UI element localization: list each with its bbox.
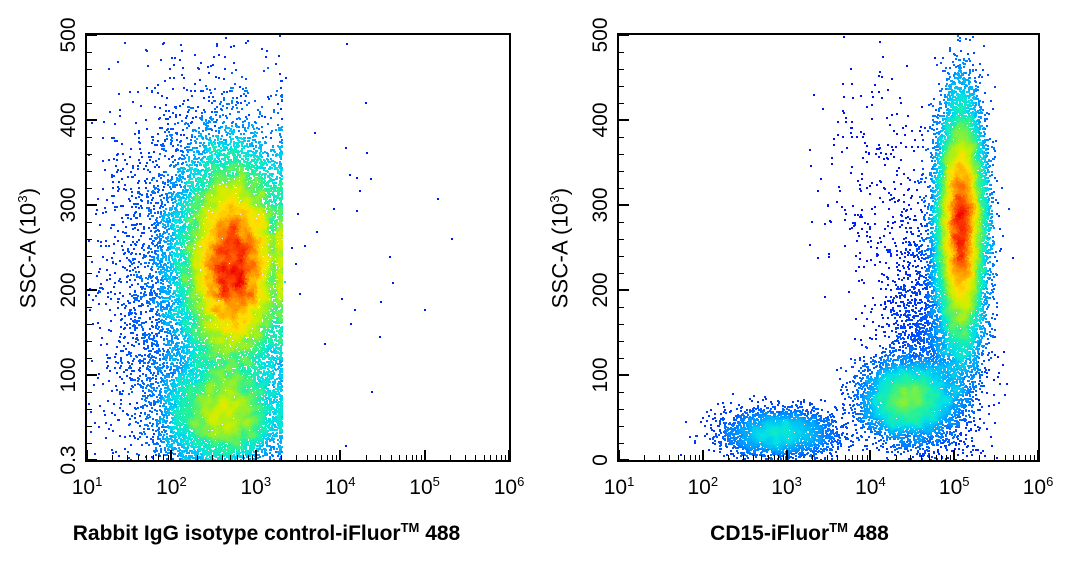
x-tick-mantissa: 10 bbox=[156, 476, 179, 499]
x-tick-minor bbox=[146, 455, 147, 460]
x-tick-minor bbox=[812, 455, 813, 460]
y-tick-minor bbox=[619, 222, 624, 223]
x-tick-exponent: 2 bbox=[179, 474, 186, 489]
x-tick-major bbox=[1037, 450, 1039, 460]
x-tick-label: 103 bbox=[747, 474, 827, 500]
x-tick-minor bbox=[837, 455, 838, 460]
x-tick-minor bbox=[327, 455, 328, 460]
x-tick-minor bbox=[936, 455, 937, 460]
x-tick-label: 102 bbox=[131, 474, 211, 500]
y-tick-major bbox=[619, 459, 629, 461]
x-tick-minor bbox=[336, 455, 337, 460]
x-tick-label: 105 bbox=[914, 474, 994, 500]
y-tick-minor bbox=[619, 409, 624, 410]
y-tick-label: 0.3 bbox=[57, 432, 81, 488]
y-tick-major bbox=[87, 459, 97, 461]
x-tick-exponent: 5 bbox=[433, 474, 440, 489]
scatter-canvas-right bbox=[619, 35, 1038, 460]
x-tick-minor bbox=[163, 455, 164, 460]
x-tick-minor bbox=[153, 455, 154, 460]
panel-left: SSC-A (103) Rabbit IgG isotype control-i… bbox=[0, 0, 533, 566]
x-tick-minor bbox=[728, 455, 729, 460]
y-tick-label: 0 bbox=[589, 432, 613, 488]
y-tick-label: 500 bbox=[589, 7, 613, 63]
y-tick-major bbox=[619, 374, 629, 376]
y-tick-label: 300 bbox=[589, 177, 613, 233]
y-tick-major bbox=[619, 34, 629, 36]
x-tick-exponent: 2 bbox=[711, 474, 718, 489]
x-tick-minor bbox=[845, 455, 846, 460]
x-tick-major bbox=[255, 450, 257, 460]
y-tick-minor bbox=[87, 86, 92, 87]
x-tick-mantissa: 10 bbox=[241, 476, 264, 499]
x-axis-title-suffix: 488 bbox=[419, 522, 460, 545]
x-tick-minor bbox=[138, 455, 139, 460]
x-tick-minor bbox=[112, 455, 113, 460]
y-tick-minor bbox=[619, 103, 624, 104]
y-axis-title-prefix: SSC-A (10 bbox=[547, 202, 572, 308]
x-tick-minor bbox=[484, 455, 485, 460]
x-tick-minor bbox=[684, 455, 685, 460]
x-tick-major bbox=[424, 450, 426, 460]
scatter-canvas-left bbox=[87, 35, 509, 460]
x-tick-mantissa: 10 bbox=[771, 476, 794, 499]
x-tick-label: 104 bbox=[300, 474, 380, 500]
x-tick-minor bbox=[168, 455, 169, 460]
x-tick-minor bbox=[406, 455, 407, 460]
y-tick-minor bbox=[619, 324, 624, 325]
x-tick-label: 105 bbox=[385, 474, 465, 500]
y-tick-minor bbox=[87, 69, 92, 70]
x-tick-minor bbox=[857, 455, 858, 460]
x-tick-minor bbox=[921, 455, 922, 460]
x-tick-minor bbox=[910, 455, 911, 460]
x-tick-minor bbox=[505, 455, 506, 460]
y-tick-minor bbox=[619, 86, 624, 87]
x-tick-minor bbox=[768, 455, 769, 460]
x-tick-minor bbox=[237, 455, 238, 460]
x-tick-major bbox=[869, 450, 871, 460]
x-tick-minor bbox=[281, 455, 282, 460]
y-tick-minor bbox=[87, 137, 92, 138]
x-tick-minor bbox=[979, 455, 980, 460]
y-tick-minor bbox=[87, 409, 92, 410]
x-tick-minor bbox=[391, 455, 392, 460]
x-tick-major bbox=[786, 450, 788, 460]
y-axis-title-left: SSC-A (103) bbox=[8, 98, 38, 398]
x-tick-major bbox=[508, 450, 510, 460]
y-axis-title-prefix: SSC-A (10 bbox=[15, 202, 40, 308]
x-tick-minor bbox=[1013, 455, 1014, 460]
y-tick-major bbox=[87, 289, 97, 291]
x-tick-label: 102 bbox=[663, 474, 743, 500]
x-tick-minor bbox=[695, 455, 696, 460]
x-tick-mantissa: 10 bbox=[939, 476, 962, 499]
y-tick-major bbox=[619, 289, 629, 291]
y-tick-minor bbox=[87, 188, 92, 189]
x-tick-exponent: 3 bbox=[795, 474, 802, 489]
x-tick-minor bbox=[475, 455, 476, 460]
y-tick-minor bbox=[619, 137, 624, 138]
x-tick-minor bbox=[366, 455, 367, 460]
plot-frame-right[interactable] bbox=[617, 33, 1040, 462]
x-tick-exponent: 1 bbox=[627, 474, 634, 489]
x-tick-minor bbox=[412, 455, 413, 460]
x-tick-minor bbox=[230, 455, 231, 460]
y-tick-minor bbox=[87, 256, 92, 257]
panel-right: SSC-A (103) CD15-iFluorTM 488 1011021031… bbox=[533, 0, 1066, 566]
x-tick-minor bbox=[490, 455, 491, 460]
x-tick-minor bbox=[332, 455, 333, 460]
y-axis-title-suffix: ) bbox=[547, 187, 572, 195]
x-tick-minor bbox=[994, 455, 995, 460]
x-tick-minor bbox=[1030, 455, 1031, 460]
y-tick-minor bbox=[619, 52, 624, 53]
x-tick-mantissa: 10 bbox=[855, 476, 878, 499]
x-tick-minor bbox=[896, 455, 897, 460]
x-tick-mantissa: 10 bbox=[409, 476, 432, 499]
y-tick-minor bbox=[87, 171, 92, 172]
y-tick-minor bbox=[619, 273, 624, 274]
y-tick-minor bbox=[87, 392, 92, 393]
x-tick-minor bbox=[212, 455, 213, 460]
trademark-mark: TM bbox=[829, 520, 848, 535]
y-tick-minor bbox=[619, 188, 624, 189]
y-tick-minor bbox=[619, 426, 624, 427]
y-tick-minor bbox=[87, 324, 92, 325]
y-tick-minor bbox=[619, 154, 624, 155]
x-tick-minor bbox=[1019, 455, 1020, 460]
x-tick-mantissa: 10 bbox=[494, 476, 517, 499]
y-tick-label: 100 bbox=[589, 347, 613, 403]
x-tick-label: 103 bbox=[216, 474, 296, 500]
y-tick-label: 200 bbox=[57, 262, 81, 318]
x-tick-minor bbox=[252, 455, 253, 460]
figure-flow-cytometry-pair: SSC-A (103) Rabbit IgG isotype control-i… bbox=[0, 0, 1066, 566]
x-tick-minor bbox=[950, 455, 951, 460]
x-tick-mantissa: 10 bbox=[1023, 476, 1046, 499]
x-tick-minor bbox=[659, 455, 660, 460]
x-tick-minor bbox=[761, 455, 762, 460]
x-tick-label: 104 bbox=[830, 474, 910, 500]
x-tick-exponent: 6 bbox=[517, 474, 524, 489]
x-tick-minor bbox=[380, 455, 381, 460]
x-tick-minor bbox=[496, 455, 497, 460]
y-tick-minor bbox=[619, 171, 624, 172]
x-axis-title-left: Rabbit IgG isotype control-iFluorTM 488 bbox=[0, 520, 533, 546]
y-axis-title-exponent: 3 bbox=[547, 195, 562, 202]
x-tick-minor bbox=[862, 455, 863, 460]
x-tick-minor bbox=[929, 455, 930, 460]
x-tick-minor bbox=[753, 455, 754, 460]
y-tick-major bbox=[87, 374, 97, 376]
y-axis-title-suffix: ) bbox=[15, 187, 40, 195]
y-tick-major bbox=[619, 119, 629, 121]
y-tick-label: 500 bbox=[57, 7, 81, 63]
x-tick-minor bbox=[827, 455, 828, 460]
y-tick-minor bbox=[87, 52, 92, 53]
x-tick-exponent: 6 bbox=[1046, 474, 1053, 489]
y-tick-label: 100 bbox=[57, 347, 81, 403]
y-tick-label: 400 bbox=[57, 92, 81, 148]
x-tick-minor bbox=[778, 455, 779, 460]
y-tick-major bbox=[619, 204, 629, 206]
x-tick-minor bbox=[699, 455, 700, 460]
x-tick-minor bbox=[946, 455, 947, 460]
y-tick-minor bbox=[87, 341, 92, 342]
y-tick-minor bbox=[619, 443, 624, 444]
x-tick-minor bbox=[783, 455, 784, 460]
y-tick-major bbox=[87, 204, 97, 206]
x-tick-minor bbox=[941, 455, 942, 460]
y-tick-minor bbox=[619, 392, 624, 393]
x-tick-minor bbox=[774, 455, 775, 460]
plot-frame-left[interactable] bbox=[85, 33, 511, 462]
x-tick-minor bbox=[197, 455, 198, 460]
x-tick-minor bbox=[315, 455, 316, 460]
x-tick-major bbox=[702, 450, 704, 460]
x-tick-exponent: 4 bbox=[878, 474, 885, 489]
y-tick-minor bbox=[87, 222, 92, 223]
x-tick-exponent: 1 bbox=[95, 474, 102, 489]
x-tick-mantissa: 10 bbox=[325, 476, 348, 499]
x-tick-minor bbox=[644, 455, 645, 460]
y-tick-label: 400 bbox=[589, 92, 613, 148]
y-tick-minor bbox=[619, 341, 624, 342]
x-tick-minor bbox=[1025, 455, 1026, 460]
x-tick-minor bbox=[852, 455, 853, 460]
y-tick-minor bbox=[87, 239, 92, 240]
x-tick-minor bbox=[669, 455, 670, 460]
x-tick-minor bbox=[867, 455, 868, 460]
x-tick-minor bbox=[690, 455, 691, 460]
y-tick-minor bbox=[87, 443, 92, 444]
y-tick-minor bbox=[87, 154, 92, 155]
y-tick-major bbox=[87, 119, 97, 121]
x-tick-minor bbox=[307, 455, 308, 460]
x-tick-minor bbox=[321, 455, 322, 460]
y-tick-minor bbox=[619, 358, 624, 359]
x-tick-minor bbox=[127, 455, 128, 460]
y-tick-minor bbox=[619, 256, 624, 257]
x-axis-title-suffix: 488 bbox=[848, 522, 889, 545]
x-tick-exponent: 4 bbox=[348, 474, 355, 489]
x-axis-title-prefix: Rabbit IgG isotype control-iFluor bbox=[73, 522, 401, 545]
x-tick-mantissa: 10 bbox=[688, 476, 711, 499]
x-tick-minor bbox=[450, 455, 451, 460]
x-tick-minor bbox=[1034, 455, 1035, 460]
y-axis-title-right: SSC-A (103) bbox=[540, 98, 570, 398]
x-tick-minor bbox=[743, 455, 744, 460]
x-tick-minor bbox=[1005, 455, 1006, 460]
x-tick-minor bbox=[416, 455, 417, 460]
x-tick-minor bbox=[501, 455, 502, 460]
trademark-mark: TM bbox=[401, 520, 420, 535]
y-tick-minor bbox=[87, 358, 92, 359]
x-tick-major bbox=[170, 450, 172, 460]
y-tick-major bbox=[87, 34, 97, 36]
y-tick-minor bbox=[619, 69, 624, 70]
x-tick-major bbox=[953, 450, 955, 460]
y-tick-minor bbox=[87, 307, 92, 308]
y-tick-minor bbox=[619, 307, 624, 308]
x-tick-major bbox=[339, 450, 341, 460]
x-tick-exponent: 3 bbox=[264, 474, 271, 489]
x-tick-label: 106 bbox=[998, 474, 1066, 500]
y-tick-minor bbox=[87, 426, 92, 427]
x-tick-minor bbox=[399, 455, 400, 460]
x-tick-minor bbox=[243, 455, 244, 460]
x-tick-exponent: 5 bbox=[962, 474, 969, 489]
x-tick-minor bbox=[421, 455, 422, 460]
x-tick-minor bbox=[222, 455, 223, 460]
y-tick-label: 200 bbox=[589, 262, 613, 318]
x-axis-title-prefix: CD15-iFluor bbox=[710, 522, 829, 545]
y-tick-minor bbox=[619, 239, 624, 240]
y-tick-minor bbox=[87, 103, 92, 104]
x-tick-minor bbox=[158, 455, 159, 460]
y-axis-title-exponent: 3 bbox=[15, 195, 30, 202]
x-tick-minor bbox=[296, 455, 297, 460]
y-tick-label: 300 bbox=[57, 177, 81, 233]
x-tick-minor bbox=[248, 455, 249, 460]
x-tick-minor bbox=[678, 455, 679, 460]
x-tick-minor bbox=[465, 455, 466, 460]
x-axis-title-right: CD15-iFluorTM 488 bbox=[533, 520, 1066, 546]
y-tick-minor bbox=[87, 273, 92, 274]
